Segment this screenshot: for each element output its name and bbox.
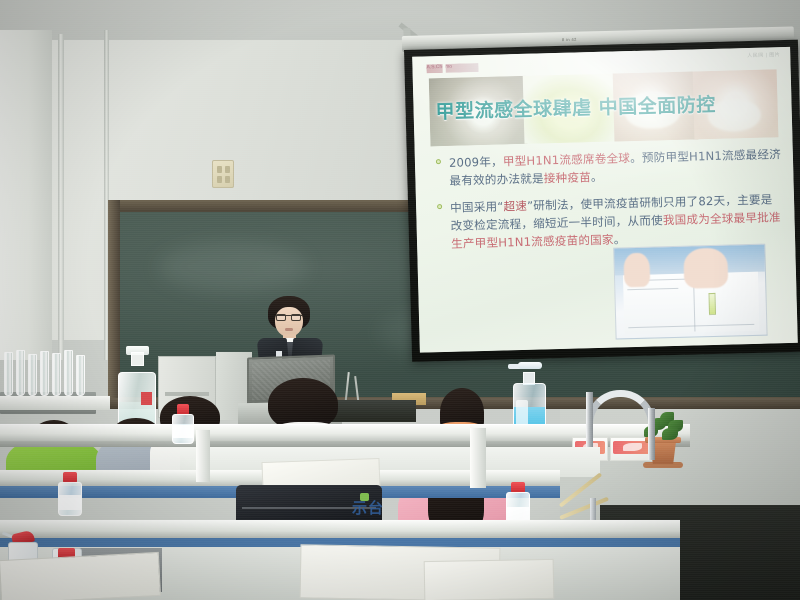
list-item: 2009年，甲型H1N1流感席卷全球。预防甲型H1N1流感最经济最有效的办法就是… — [433, 145, 784, 190]
bullet-segment: 超速 — [503, 199, 527, 214]
bullet-text: 中国采用“超速”研制法，使甲流疫苗研制只用了82天，主要是改变检定流程，缩短近一… — [450, 192, 781, 250]
bullet-segment: 2009年， — [449, 154, 503, 169]
presenter-face — [275, 307, 303, 337]
bullet-dot-icon — [436, 159, 441, 164]
slide-watermark: 人民网 | 图片 — [747, 51, 780, 59]
water-bottle — [58, 472, 82, 516]
wall-column-left — [0, 30, 52, 360]
bench-lower-top — [0, 520, 680, 538]
plant-leaf — [662, 428, 678, 440]
slide-inset-photo — [613, 244, 767, 340]
shelf-post — [470, 428, 486, 488]
dispenser-pump[interactable] — [518, 362, 542, 369]
bullet-segment: 接种疫苗 — [544, 170, 592, 185]
presenter-mouth — [285, 328, 293, 331]
water-bottle — [172, 404, 194, 444]
wall-seam — [58, 34, 64, 360]
bench-label: 示台 — [352, 497, 384, 518]
test-tube — [52, 353, 61, 396]
paper-sheet — [0, 552, 161, 600]
test-tube — [76, 355, 85, 396]
projection-screen[interactable]: A.S.Chemo 人民网 | 图片 甲型流感全球肆虐 中国全面防控 2009年… — [404, 40, 800, 362]
roller-label: 8 in 42 — [562, 37, 577, 42]
faucet-stem[interactable] — [648, 408, 655, 460]
test-tube — [40, 351, 49, 396]
glasses-icon — [276, 315, 302, 321]
dispenser-label — [516, 400, 528, 426]
test-tube — [16, 350, 25, 396]
shelf-upper-left — [0, 396, 110, 410]
bullet-segment: 中国采用“ — [450, 199, 504, 214]
bullet-segment: 。 — [591, 170, 603, 184]
projection-screen-surface: A.S.Chemo 人民网 | 图片 甲型流感全球肆虐 中国全面防控 2009年… — [412, 47, 798, 353]
bullet-dot-icon — [437, 204, 442, 209]
bullet-segment: 。 — [614, 232, 626, 246]
wall-switch[interactable] — [212, 160, 234, 188]
bullet-text: 2009年，甲型H1N1流感席卷全球。预防甲型H1N1流感最经济最有效的办法就是… — [449, 147, 781, 188]
slide: A.S.Chemo 人民网 | 图片 甲型流感全球肆虐 中国全面防控 2009年… — [412, 47, 798, 353]
test-tube — [64, 350, 73, 396]
paper-sheet — [424, 559, 555, 600]
slide-logo: A.S.Chemo — [426, 63, 478, 73]
test-tube — [28, 354, 37, 396]
reagent-bottle-neck — [131, 352, 144, 366]
test-tube — [4, 352, 13, 396]
bullet-segment: 甲型H1N1流感席卷全球 — [503, 151, 631, 168]
shelf-post — [196, 430, 210, 482]
classroom-photo: 8 in 42 A.S.Chemo 人民网 | 图片 甲型流感全球肆虐 中国全面… — [0, 0, 800, 600]
